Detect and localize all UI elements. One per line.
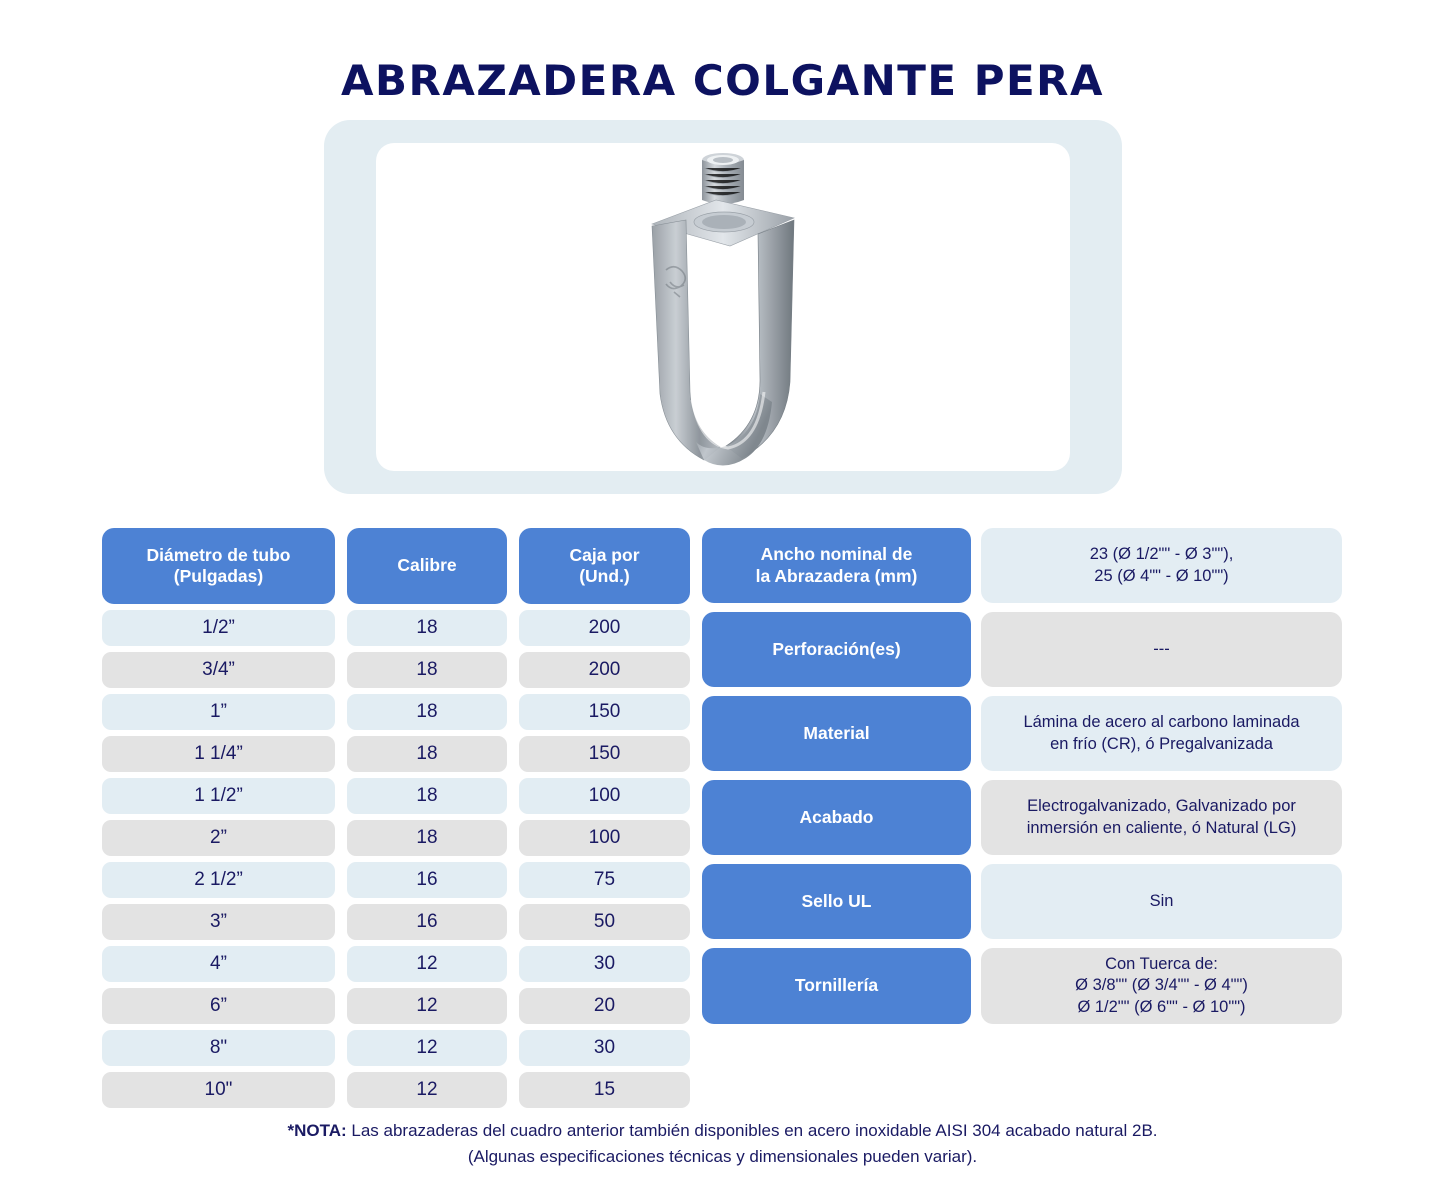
cell-calibre: 12 [347,988,507,1024]
table-row: 10" 12 15 [102,1072,690,1108]
cell-calibre: 18 [347,652,507,688]
cell-diametro: 10" [102,1072,335,1108]
cell-diametro: 3/4” [102,652,335,688]
footer-note-line-1: *NOTA: Las abrazaderas del cuadro anteri… [0,1118,1445,1144]
cell-diametro: 4” [102,946,335,982]
product-image-panel [376,143,1070,471]
cell-diametro: 1 1/2” [102,778,335,814]
table-row: 4” 12 30 [102,946,690,982]
cell-calibre: 16 [347,904,507,940]
specification-table: Ancho nominal de la Abrazadera (mm) 23 (… [702,528,1342,1033]
cell-diametro: 2” [102,820,335,856]
footer-note: *NOTA: Las abrazaderas del cuadro anteri… [0,1118,1445,1171]
cell-calibre: 12 [347,1030,507,1066]
cell-caja: 50 [519,904,690,940]
spec-label: Perforación(es) [702,612,971,687]
cell-diametro: 8" [102,1030,335,1066]
page-title: ABRAZADERA COLGANTE PERA [0,56,1445,105]
cell-caja: 150 [519,694,690,730]
dimension-table-header-row: Diámetro de tubo (Pulgadas) Calibre Caja… [102,528,690,604]
cell-caja: 20 [519,988,690,1024]
spec-label: Material [702,696,971,771]
cell-caja: 100 [519,778,690,814]
column-header-calibre: Calibre [347,528,507,604]
footer-note-line-2: (Algunas especificaciones técnicas y dim… [0,1144,1445,1170]
spec-row-tornilleria: Tornillería Con Tuerca de: Ø 3/8"" (Ø 3/… [702,948,1342,1024]
cell-calibre: 12 [347,946,507,982]
cell-diametro: 2 1/2” [102,862,335,898]
cell-caja: 15 [519,1072,690,1108]
column-header-diametro: Diámetro de tubo (Pulgadas) [102,528,335,604]
cell-caja: 30 [519,1030,690,1066]
spec-row-material: Material Lámina de acero al carbono lami… [702,696,1342,771]
spec-value: --- [981,612,1342,687]
spec-label: Tornillería [702,948,971,1024]
table-row: 1/2” 18 200 [102,610,690,646]
footer-note-label: *NOTA: [287,1121,346,1140]
cell-caja: 75 [519,862,690,898]
spec-value: 23 (Ø 1/2"" - Ø 3""), 25 (Ø 4"" - Ø 10""… [981,528,1342,603]
dimension-table: Diámetro de tubo (Pulgadas) Calibre Caja… [102,528,690,1108]
cell-calibre: 18 [347,610,507,646]
table-row: 8" 12 30 [102,1030,690,1066]
product-image-frame [324,120,1122,494]
table-row: 2 1/2” 16 75 [102,862,690,898]
spec-row-sello-ul: Sello UL Sin [702,864,1342,939]
cell-diametro: 1” [102,694,335,730]
spec-value: Con Tuerca de: Ø 3/8"" (Ø 3/4"" - Ø 4"")… [981,948,1342,1024]
spec-label: Sello UL [702,864,971,939]
cell-calibre: 12 [347,1072,507,1108]
table-row: 6” 12 20 [102,988,690,1024]
spec-value: Electrogalvanizado, Galvanizado por inme… [981,780,1342,855]
cell-diametro: 1/2” [102,610,335,646]
table-row: 2” 18 100 [102,820,690,856]
pipe-hanger-clamp-pear-icon [608,142,838,472]
cell-calibre: 16 [347,862,507,898]
table-row: 1 1/4” 18 150 [102,736,690,772]
cell-calibre: 18 [347,694,507,730]
cell-diametro: 3” [102,904,335,940]
cell-calibre: 18 [347,820,507,856]
cell-calibre: 18 [347,778,507,814]
table-row: 1 1/2” 18 100 [102,778,690,814]
spec-row-perforaciones: Perforación(es) --- [702,612,1342,687]
cell-diametro: 6” [102,988,335,1024]
spec-row-acabado: Acabado Electrogalvanizado, Galvanizado … [702,780,1342,855]
cell-caja: 150 [519,736,690,772]
table-row: 3/4” 18 200 [102,652,690,688]
spec-value: Lámina de acero al carbono laminada en f… [981,696,1342,771]
footer-note-text-1: Las abrazaderas del cuadro anterior tamb… [347,1121,1158,1140]
cell-caja: 200 [519,652,690,688]
cell-diametro: 1 1/4” [102,736,335,772]
spec-label: Acabado [702,780,971,855]
cell-caja: 200 [519,610,690,646]
spec-row-ancho-nominal: Ancho nominal de la Abrazadera (mm) 23 (… [702,528,1342,603]
cell-caja: 30 [519,946,690,982]
cell-caja: 100 [519,820,690,856]
column-header-caja: Caja por (Und.) [519,528,690,604]
spec-value: Sin [981,864,1342,939]
cell-calibre: 18 [347,736,507,772]
table-row: 3” 16 50 [102,904,690,940]
spec-label: Ancho nominal de la Abrazadera (mm) [702,528,971,603]
table-row: 1” 18 150 [102,694,690,730]
